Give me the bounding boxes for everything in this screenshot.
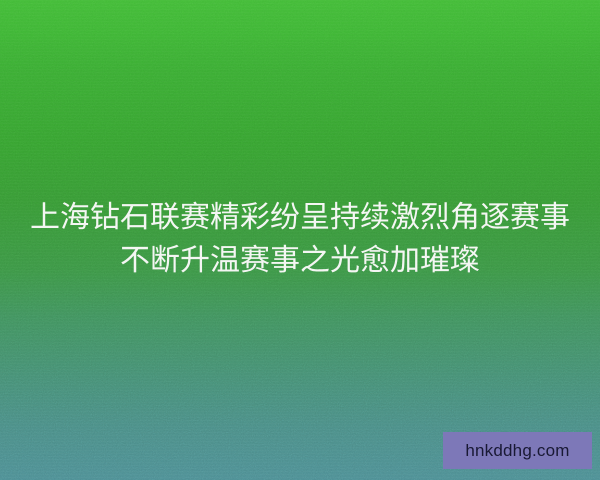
watermark-badge: hnkddhg.com — [443, 432, 592, 469]
page-title: 上海钻石联赛精彩纷呈持续激烈角逐赛事 不断升温赛事之光愈加璀璨 — [0, 196, 600, 282]
title-line-2: 不断升温赛事之光愈加璀璨 — [16, 239, 584, 282]
image-canvas: 上海钻石联赛精彩纷呈持续激烈角逐赛事 不断升温赛事之光愈加璀璨 hnkddhg.… — [0, 0, 600, 480]
watermark-text: hnkddhg.com — [465, 442, 569, 459]
title-line-1: 上海钻石联赛精彩纷呈持续激烈角逐赛事 — [16, 196, 584, 239]
